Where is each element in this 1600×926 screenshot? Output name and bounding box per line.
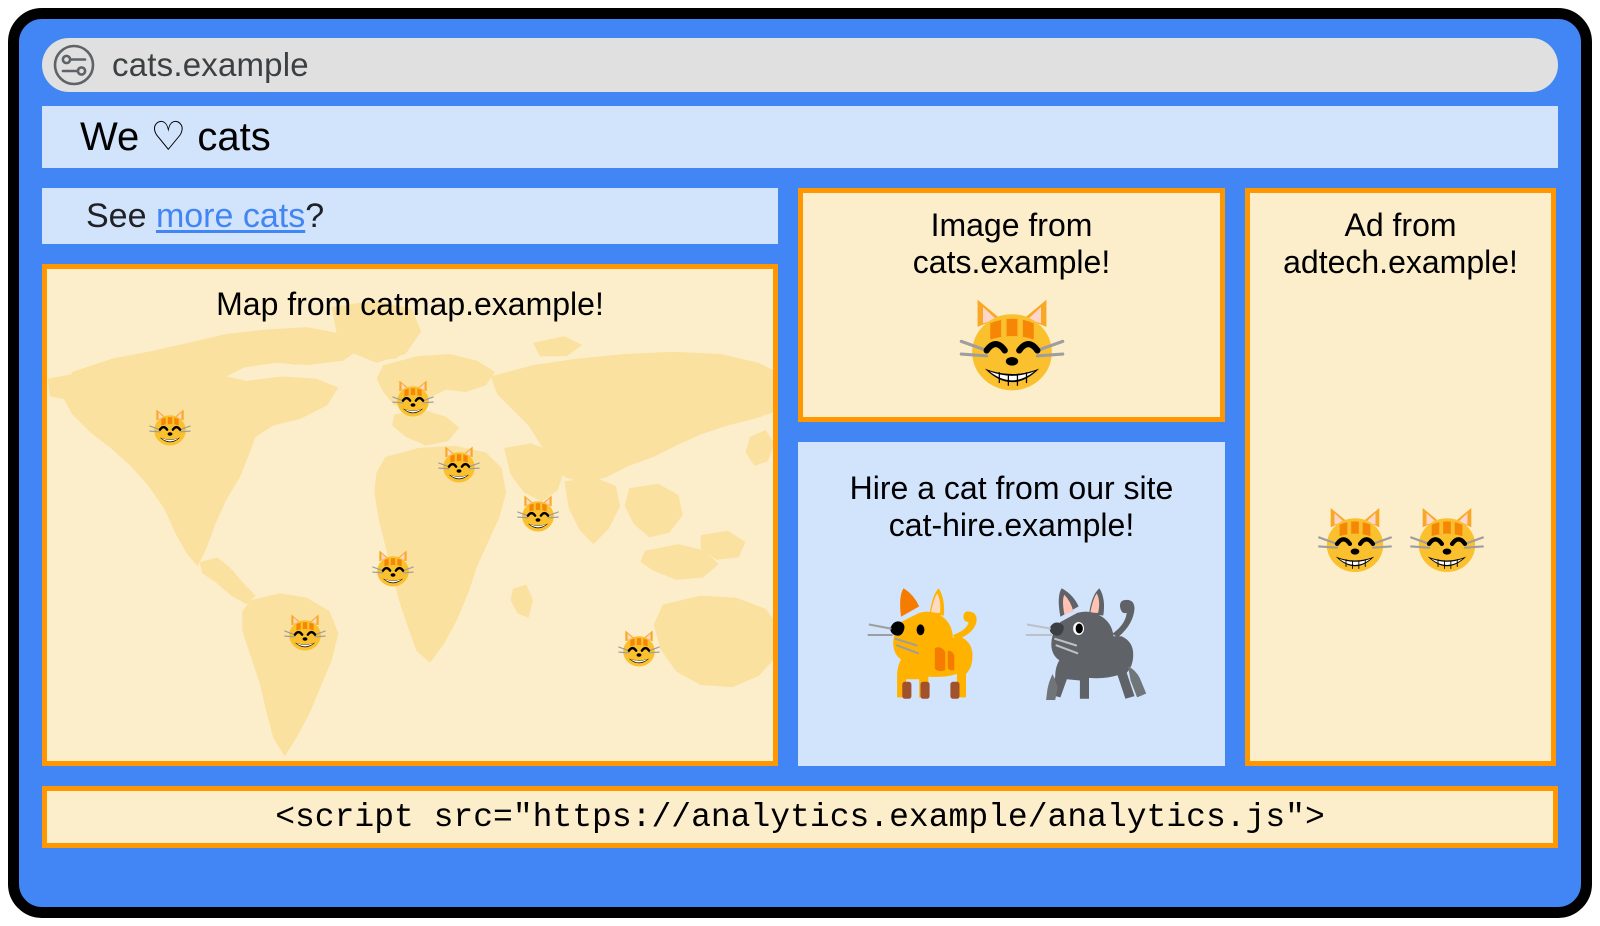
browser-window: cats.example We ♡ cats See more cats? Ma…	[8, 8, 1592, 918]
orange-cat-icon	[862, 570, 992, 705]
url-text[interactable]: cats.example	[112, 46, 309, 84]
hire-cat-images	[862, 570, 1162, 705]
map-cat-marker[interactable]	[390, 376, 436, 427]
grinning-cat-face-icon	[390, 376, 436, 422]
grinning-cat-face-icon	[282, 609, 328, 655]
grinning-cat-face-icon	[1406, 499, 1488, 586]
black-cat-icon	[1016, 570, 1162, 705]
see-more-cats-text: See more cats?	[86, 197, 324, 236]
script-tag-text: <script src="https://analytics.example/a…	[275, 799, 1325, 836]
grinning-cat-face-icon	[147, 405, 193, 451]
hire-panel-title: Hire a cat from our site cat-hire.exampl…	[850, 470, 1174, 544]
image-panel: Image from cats.example!	[798, 188, 1225, 422]
url-bar[interactable]: cats.example	[42, 38, 1558, 92]
map-cat-markers	[47, 269, 773, 761]
more-cats-link[interactable]: more cats	[156, 197, 305, 235]
image-panel-title: Image from cats.example!	[913, 207, 1110, 281]
map-cat-marker[interactable]	[370, 546, 416, 597]
right-column: Ad from adtech.example!	[1245, 188, 1556, 766]
ad-cat-images	[1314, 499, 1488, 586]
hero-title: We ♡ cats	[80, 114, 271, 160]
tune-settings-icon[interactable]	[52, 43, 96, 87]
ad-panel-title: Ad from adtech.example!	[1283, 207, 1518, 281]
grinning-cat-face-icon	[515, 491, 561, 537]
map-cat-marker[interactable]	[282, 609, 328, 660]
page-content: See more cats? Map from catmap.example!	[42, 188, 1558, 766]
grinning-cat-face-icon	[1314, 499, 1396, 586]
map-cat-marker[interactable]	[616, 625, 662, 676]
see-more-cats-box: See more cats?	[42, 188, 778, 244]
hire-panel: Hire a cat from our site cat-hire.exampl…	[798, 442, 1225, 766]
grinning-cat-face-icon	[954, 287, 1070, 408]
map-cat-marker[interactable]	[147, 405, 193, 456]
hero-banner: We ♡ cats	[42, 106, 1558, 168]
map-cat-marker[interactable]	[515, 491, 561, 542]
link-suffix: ?	[305, 197, 324, 235]
link-prefix: See	[86, 197, 156, 235]
ad-panel: Ad from adtech.example!	[1245, 188, 1556, 766]
map-cat-marker[interactable]	[436, 441, 482, 492]
left-column: See more cats? Map from catmap.example!	[42, 188, 778, 766]
grinning-cat-face-icon	[436, 441, 482, 487]
map-panel: Map from catmap.example!	[42, 264, 778, 766]
grinning-cat-face-icon	[370, 546, 416, 592]
grinning-cat-face-icon	[616, 625, 662, 671]
map-panel-title: Map from catmap.example!	[216, 286, 604, 323]
middle-column: Image from cats.example!	[798, 188, 1225, 766]
analytics-script-footer: <script src="https://analytics.example/a…	[42, 786, 1558, 848]
